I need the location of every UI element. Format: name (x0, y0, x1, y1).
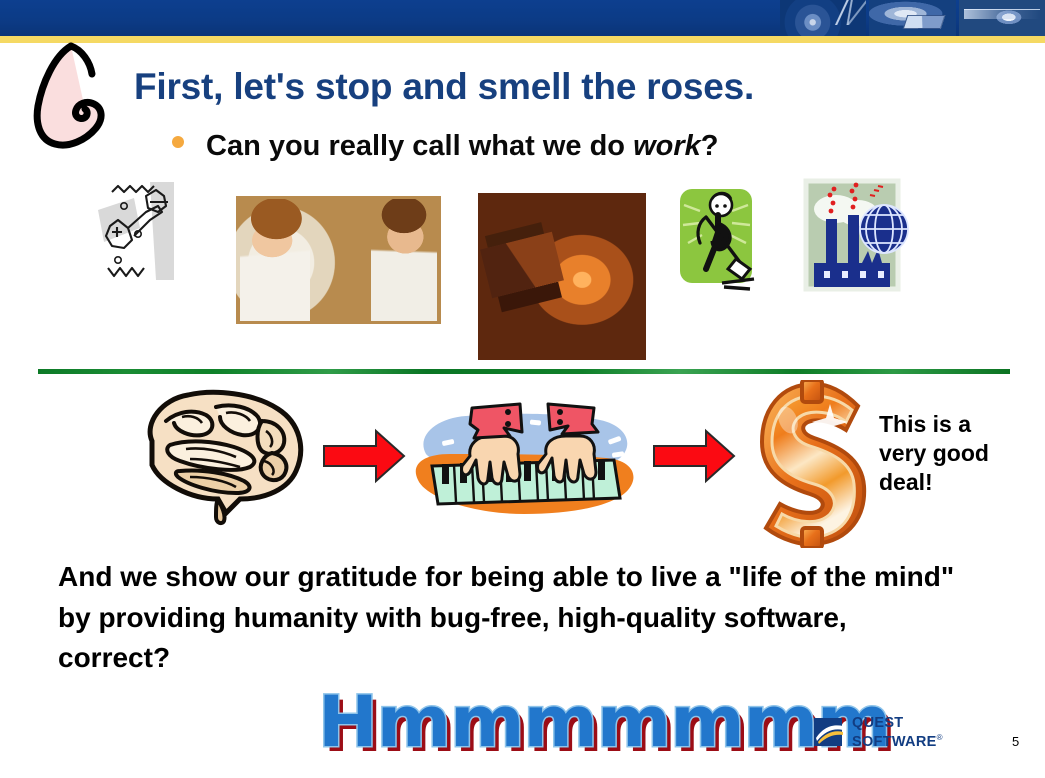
quest-software-logo: QUEST SOFTWARE® (812, 716, 943, 749)
nurses-photo-image (236, 196, 441, 324)
section-divider (38, 369, 1010, 374)
bullet-dot-icon (172, 136, 184, 148)
hands-keyboard-clipart (408, 402, 640, 532)
quest-logo-mark-icon (812, 716, 846, 748)
nose-clipart (24, 40, 140, 152)
arrow-right-2-icon (652, 428, 736, 484)
callout-line-1: This is a (879, 410, 1035, 439)
callout-text: This is a very good deal! (879, 410, 1035, 498)
factory-globe-clipart (800, 177, 913, 300)
page-number: 5 (1012, 734, 1019, 749)
pipe-wrench-clipart (88, 176, 196, 296)
quest-logo-wordmark: QUEST SOFTWARE® (852, 716, 943, 749)
mine-tunnel-photo-image (478, 193, 646, 360)
header-yellow-rule (0, 36, 1045, 43)
bullet-text-after: ? (701, 130, 719, 162)
registered-mark: ® (937, 733, 943, 742)
shovel-worker-clipart (676, 183, 762, 296)
tech-photo-1-image (780, 0, 866, 36)
header-photo-strip (780, 0, 1045, 36)
wordart-text-layer: Hmmmmmmm (318, 688, 746, 760)
quest-logo-line-1: QUEST (852, 716, 943, 731)
engineer-photo-3-image (959, 0, 1045, 36)
callout-line-2: very good (879, 439, 1035, 468)
page-title: First, let's stop and smell the roses. (134, 66, 754, 108)
brain-illustration (118, 387, 314, 527)
hmmmmmmm-wordart: Hmmmmmmm Hmmmmmmm (318, 688, 738, 760)
dollar-sign-3d (758, 380, 870, 548)
arrow-right-1-icon (322, 428, 406, 484)
bullet-row: Can you really call what we do work? (172, 130, 718, 163)
callout-line-3: deal! (879, 468, 1035, 497)
body-paragraph: And we show our gratitude for being able… (58, 557, 958, 679)
header-banner (0, 0, 1045, 36)
bullet-text: Can you really call what we do work? (206, 130, 718, 163)
bullet-text-emphasis: work (633, 130, 701, 162)
bullet-text-before: Can you really call what we do (206, 130, 633, 162)
tech-photo-2-image (869, 0, 955, 36)
quest-logo-line-2: SOFTWARE® (852, 731, 943, 749)
